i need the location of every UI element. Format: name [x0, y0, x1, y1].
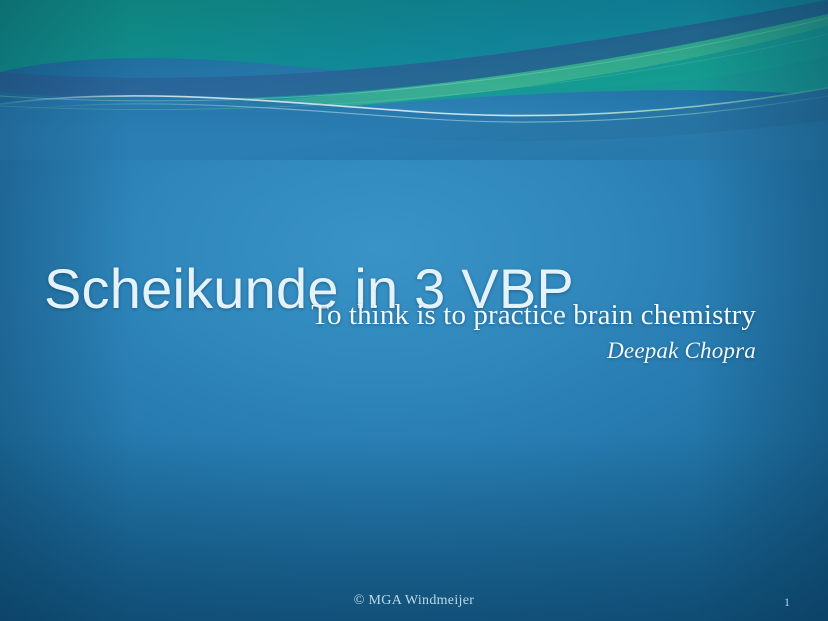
subtitle-quote: To think is to practice brain chemistry [136, 297, 756, 334]
subtitle-author: Deepak Chopra [136, 334, 756, 369]
presentation-slide: Scheikunde in 3 VBP To think is to pract… [0, 0, 828, 621]
footer-page-number: 1 [784, 595, 790, 610]
slide-subtitle: To think is to practice brain chemistry … [136, 297, 756, 369]
footer-copyright: © MGA Windmeijer [0, 593, 828, 609]
